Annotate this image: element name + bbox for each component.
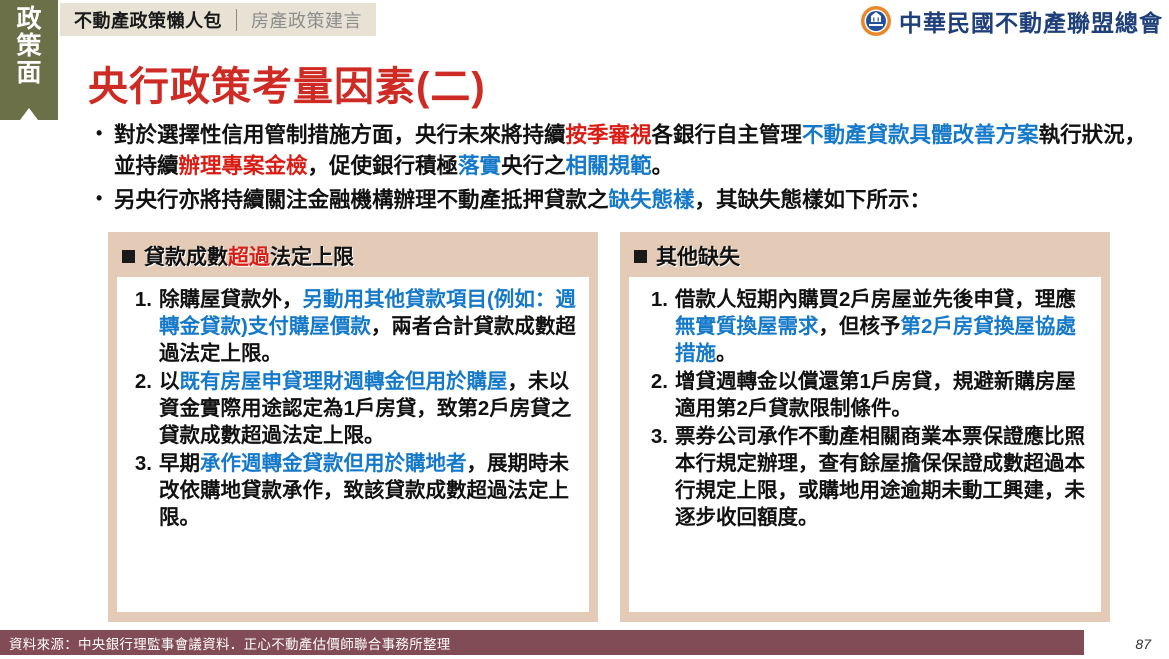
panel-row: 貸款成數超過法定上限除購屋貸款外，另動用其他貸款項目(例如：週轉金貸款)支付購屋… [108,232,1110,622]
bullet-item: •對於選擇性信用管制措施方面，央行未來將持續按季審視各銀行自主管理不動產貸款具體… [96,120,1154,181]
panel-loan-ratio-exceeds-limit: 貸款成數超過法定上限除購屋貸款外，另動用其他貸款項目(例如：週轉金貸款)支付購屋… [108,232,598,622]
panel-heading-text: 貸款成數超過法定上限 [144,241,354,271]
list-item: 票券公司承作不動產相關商業本票保證應比照本行規定辦理，查有餘屋擔保保證成數超過本… [637,423,1091,531]
bullet-1-run-2: ，其缺失態樣如下所示： [695,188,932,212]
bullet-0-run-1: 按季審視 [566,123,652,147]
bullet-text: 另央行亦將持續關注金融機構辦理不動產抵押貸款之缺失態樣，其缺失態樣如下所示： [114,185,1154,216]
breadcrumb-item-inactive[interactable]: 房產政策建言 [251,7,362,33]
panel-body: 除購屋貸款外，另動用其他貸款項目(例如：週轉金貸款)支付購屋價款，兩者合計貸款成… [117,277,589,612]
bullet-1-run-0: 另央行亦將持續關注金融機構辦理不動產抵押貸款之 [114,188,609,212]
bullet-marker-icon: • [96,185,114,212]
bullet-1-run-1: 缺失態樣 [609,188,695,212]
panel-0-item-1-run-0: 以 [159,370,180,393]
panel-heading: 貸款成數超過法定上限 [117,238,589,277]
panel-1-item-0-run-4: 。 [716,342,737,365]
list-item-text: 除購屋貸款外，另動用其他貸款項目(例如：週轉金貸款)支付購屋價款，兩者合計貸款成… [159,286,579,367]
list-item-text: 以既有房屋申貸理財週轉金但用於購屋，未以資金實際用途認定為1戶房貸，致第2戶房貸… [159,368,579,449]
list-item: 除購屋貸款外，另動用其他貸款項目(例如：週轉金貸款)支付購屋價款，兩者合計貸款成… [121,286,579,367]
list-item-text: 票券公司承作不動產相關商業本票保證應比照本行規定辦理，查有餘屋擔保保證成數超過本… [675,423,1091,531]
list-item-text: 增貸週轉金以償還第1戶房貸，規避新購房屋適用第2戶貸款限制條件。 [675,368,1091,422]
section-tab-label: 政 策 面 [16,6,41,87]
section-tab-policy[interactable]: 政 策 面 [0,0,58,120]
list-item: 增貸週轉金以償還第1戶房貸，規避新購房屋適用第2戶貸款限制條件。 [637,368,1091,422]
panel-1-item-2-run-0: 票券公司承作不動產相關商業本票保證應比照本行規定辦理，查有餘屋擔保保證成數超過本… [675,425,1085,529]
bullet-item: •另央行亦將持續關注金融機構辦理不動產抵押貸款之缺失態樣，其缺失態樣如下所示： [96,185,1154,216]
breadcrumb: 不動產政策懶人包 房產政策建言 [60,3,376,36]
bullet-0-run-10: 。 [652,154,674,178]
panel-1-item-0-run-0: 借款人短期內購買2戶房屋並先後申貸，理應 [675,288,1076,311]
slide: 政 策 面 不動產政策懶人包 房產政策建言 中華民國不動產聯盟總會 央行政策考量… [0,0,1169,659]
bullet-0-run-7: 落實 [458,154,501,178]
panel-0-item-2-run-0: 早期 [159,452,200,475]
source-note: 資料來源：中央銀行理監事會議資料．正心不動產估價師聯合事務所整理 [0,630,1084,655]
section-tab-char-3: 面 [16,60,41,87]
panel-heading: 其他缺失 [629,238,1101,277]
square-bullet-icon [122,250,135,263]
panel-0-heading-run-0: 貸款成數 [144,246,228,269]
page-number: 87 [1135,636,1151,652]
breadcrumb-item-active[interactable]: 不動產政策懶人包 [74,7,222,33]
breadcrumb-separator [236,9,237,31]
panel-0-heading-run-1: 超過 [228,246,270,269]
section-tab-char-1: 政 [16,6,41,33]
bullet-0-run-0: 對於選擇性信用管制措施方面，央行未來將持續 [114,123,566,147]
bullet-0-run-2: 各銀行自主管理 [652,123,803,147]
panel-0-item-2-run-1: 承作週轉金貸款但用於購地者 [200,452,467,475]
list-item-text: 借款人短期內購買2戶房屋並先後申貸，理應無實質換屋需求，但核予第2戶房貸換屋協處… [675,286,1091,367]
panel-1-item-0-run-1: 無實質換屋需求 [675,315,819,338]
panel-0-item-1-run-1: 既有房屋申貸理財週轉金但用於購屋 [180,370,508,393]
bullet-0-run-9: 相關規範 [566,154,652,178]
brand-name: 中華民國不動產聯盟總會 [899,4,1163,38]
brand-logo: 中華民國不動產聯盟總會 [860,2,1163,40]
numbered-list: 借款人短期內購買2戶房屋並先後申貸，理應無實質換屋需求，但核予第2戶房貸換屋協處… [637,286,1091,531]
triangle-up-icon [20,108,38,120]
list-item-text: 早期承作週轉金貸款但用於購地者，展期時未改依購地貸款承作，致該貸款成數超過法定上… [159,450,579,531]
list-item: 早期承作週轉金貸款但用於購地者，展期時未改依購地貸款承作，致該貸款成數超過法定上… [121,450,579,531]
bullet-0-run-6: ，促使銀行積極 [308,154,459,178]
panel-heading-text: 其他缺失 [656,241,740,271]
numbered-list: 除購屋貸款外，另動用其他貸款項目(例如：週轉金貸款)支付購屋價款，兩者合計貸款成… [121,286,579,531]
panel-0-item-0-run-0: 除購屋貸款外， [159,288,303,311]
panel-1-heading-run-0: 其他缺失 [656,246,740,269]
page-title: 央行政策考量因素(二) [88,54,486,112]
bullet-text: 對於選擇性信用管制措施方面，央行未來將持續按季審視各銀行自主管理不動產貸款具體改… [114,120,1154,181]
bullet-marker-icon: • [96,120,114,147]
bullet-0-run-3: 不動產貸款具體改善方案 [802,123,1039,147]
square-bullet-icon [634,250,647,263]
association-seal-icon [860,5,892,37]
panel-0-heading-run-2: 法定上限 [270,246,354,269]
panel-1-item-0-run-2: ，但核予 [819,315,901,338]
list-item: 以既有房屋申貸理財週轉金但用於購屋，未以資金實際用途認定為1戶房貸，致第2戶房貸… [121,368,579,449]
panel-other-deficiencies: 其他缺失借款人短期內購買2戶房屋並先後申貸，理應無實質換屋需求，但核予第2戶房貸… [620,232,1110,622]
section-tab-char-2: 策 [16,33,41,60]
bullet-0-run-5: 辦理專案金檢 [179,154,308,178]
bullet-0-run-8: 央行之 [501,154,566,178]
list-item: 借款人短期內購買2戶房屋並先後申貸，理應無實質換屋需求，但核予第2戶房貸換屋協處… [637,286,1091,367]
bullet-list: •對於選擇性信用管制措施方面，央行未來將持續按季審視各銀行自主管理不動產貸款具體… [96,120,1154,220]
panel-body: 借款人短期內購買2戶房屋並先後申貸，理應無實質換屋需求，但核予第2戶房貸換屋協處… [629,277,1101,612]
panel-1-item-1-run-0: 增貸週轉金以償還第1戶房貸，規避新購房屋適用第2戶貸款限制條件。 [675,370,1076,420]
